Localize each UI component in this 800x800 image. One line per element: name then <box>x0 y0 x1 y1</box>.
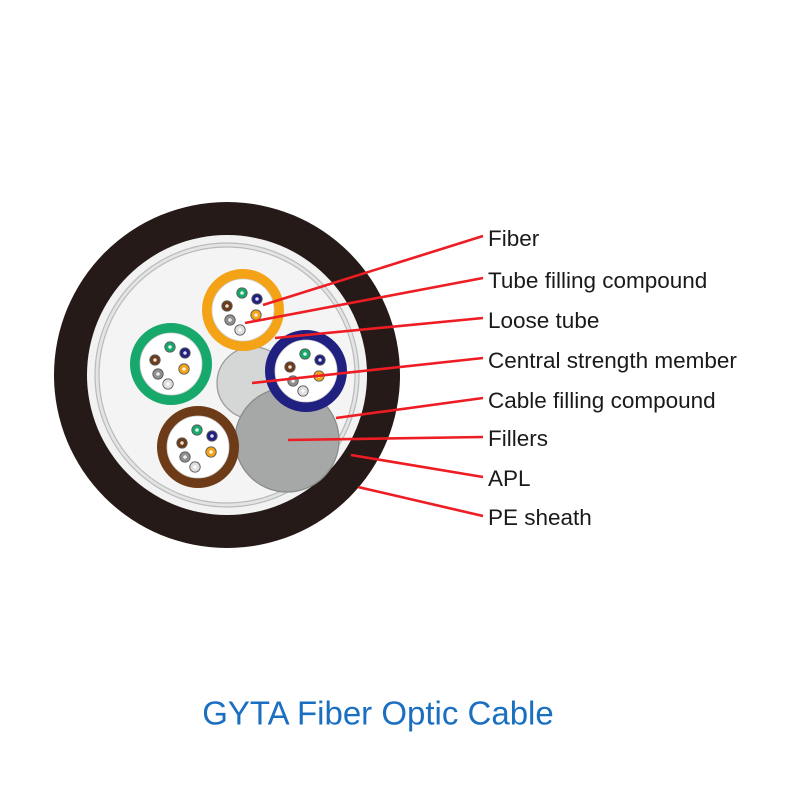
callout-apl: APL <box>488 466 531 491</box>
callout-tube-filling-compound: Tube filling compound <box>488 268 707 293</box>
loose-tube-brown-fiber-core-1 <box>195 428 199 432</box>
callout-pe-sheath: PE sheath <box>488 505 592 530</box>
loose-tube-brown-fiber-core-5 <box>183 455 187 459</box>
loose-tube-blue-fiber-core-2 <box>318 358 322 362</box>
loose-tube-green-fiber-core-5 <box>156 372 160 376</box>
loose-tube-green-fiber-core-1 <box>168 345 172 349</box>
loose-tube-blue-fiber-core-1 <box>303 352 307 356</box>
loose-tube-green <box>135 328 207 400</box>
loose-tube-green-fiber-core-4 <box>182 367 186 371</box>
loose-tube-orange-fiber-core-1 <box>240 291 244 295</box>
callout-loose-tube: Loose tube <box>488 308 599 333</box>
cable-illustration <box>54 202 400 548</box>
loose-tube-orange-fiber-core-5 <box>228 318 232 322</box>
loose-tube-blue-fiber-core-6 <box>301 389 305 393</box>
loose-tube-blue-fiber-core-3 <box>288 365 292 369</box>
loose-tube-orange-fiber-core-2 <box>255 297 259 301</box>
loose-tube-green-fiber-core-6 <box>166 382 170 386</box>
loose-tube-brown-fiber-core-3 <box>180 441 184 445</box>
loose-tube-brown-fiber-core-4 <box>209 450 213 454</box>
callout-fillers: Fillers <box>488 426 548 451</box>
loose-tube-orange-fiber-core-4 <box>254 313 258 317</box>
loose-tube-brown-fiber-core-6 <box>193 465 197 469</box>
loose-tube-orange-fiber-core-3 <box>225 304 229 308</box>
loose-tube-brown <box>162 411 234 483</box>
loose-tube-orange-fiber-core-6 <box>238 328 242 332</box>
loose-tube-green-fiber-core-2 <box>183 351 187 355</box>
cable-cross-section-diagram: FiberTube filling compoundLoose tubeCent… <box>0 0 800 800</box>
callout-central-strength-member: Central strength member <box>488 348 737 373</box>
loose-tube-brown-fiber-core-2 <box>210 434 214 438</box>
callout-fiber: Fiber <box>488 226 540 251</box>
loose-tube-green-fiber-core-3 <box>153 358 157 362</box>
loose-tube-blue <box>270 335 342 407</box>
callout-cable-filling-compound: Cable filling compound <box>488 388 716 413</box>
loose-tube-orange <box>207 274 279 346</box>
figure-canvas: FiberTube filling compoundLoose tubeCent… <box>0 0 800 800</box>
page-title: GYTA Fiber Optic Cable <box>202 695 554 732</box>
